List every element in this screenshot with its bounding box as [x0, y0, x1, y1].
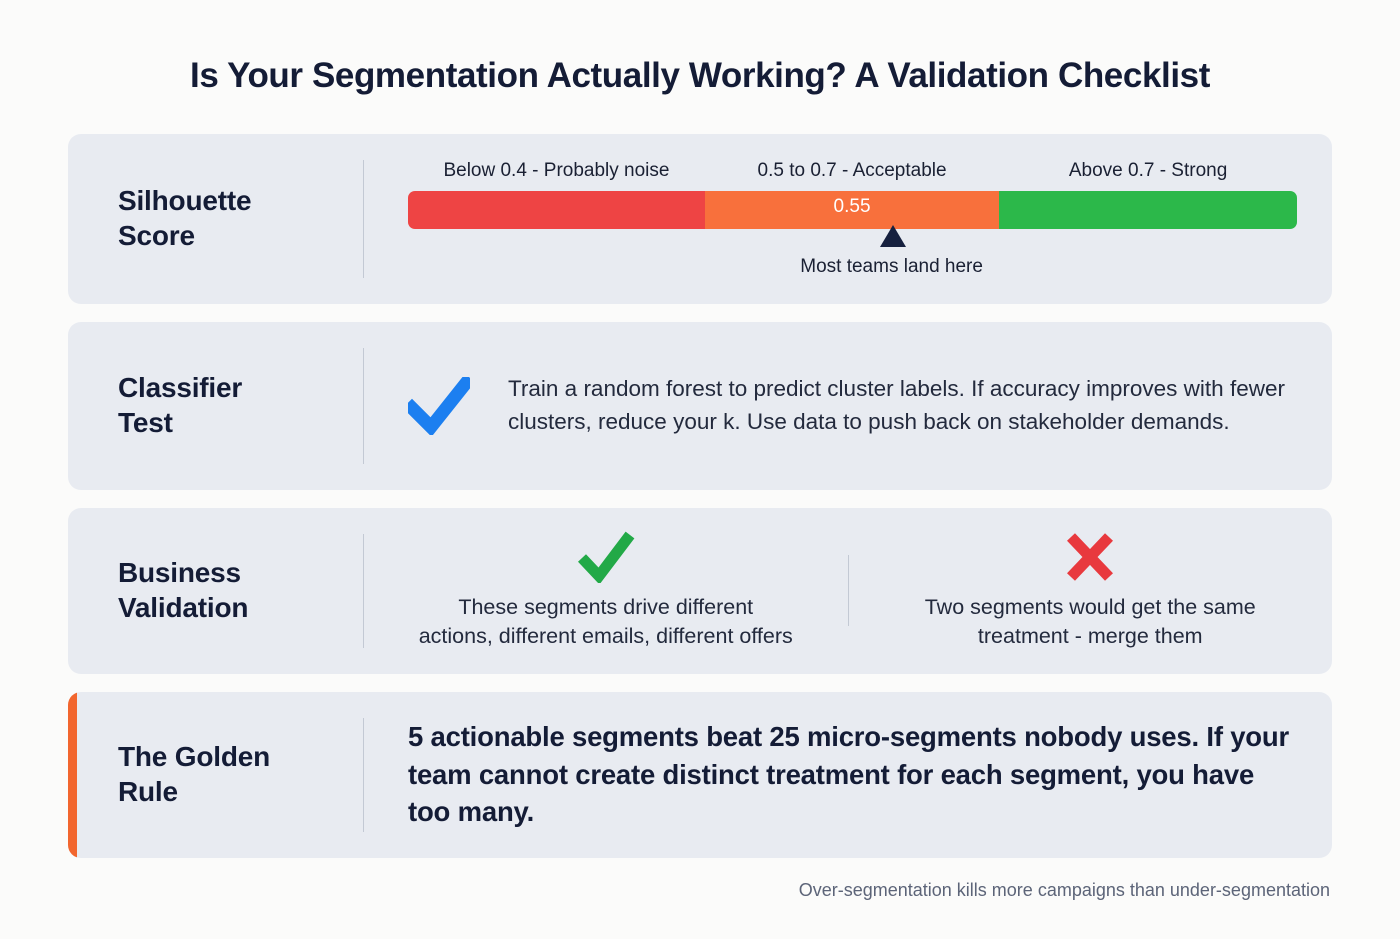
gauge-legend-mid: 0.5 to 0.7 - Acceptable — [705, 160, 999, 182]
row-label-line-1: The Golden — [118, 740, 363, 774]
card-silhouette-score: Silhouette Score Below 0.4 - Probably no… — [68, 134, 1332, 304]
silhouette-gauge: Below 0.4 - Probably noise 0.5 to 0.7 - … — [364, 160, 1332, 278]
infographic-page: Is Your Segmentation Actually Working? A… — [0, 0, 1400, 939]
row-label-line-2: Validation — [118, 591, 363, 625]
row-label-line-2: Score — [118, 219, 363, 253]
row-label-business-validation: Business Validation — [68, 556, 363, 624]
row-label-silhouette-score: Silhouette Score — [68, 184, 363, 252]
gauge-legend-low: Below 0.4 - Probably noise — [408, 160, 705, 182]
card-golden-rule: The Golden Rule 5 actionable segments be… — [68, 692, 1332, 858]
gauge-legend-high: Above 0.7 - Strong — [999, 160, 1297, 182]
silhouette-gauge-body: Below 0.4 - Probably noise 0.5 to 0.7 - … — [364, 160, 1332, 278]
row-label-classifier-test: Classifier Test — [68, 371, 363, 439]
business-column-positive: These segments drive different actions, … — [364, 531, 848, 650]
business-positive-text: These segments drive different actions, … — [419, 593, 793, 650]
business-negative-line-1: Two segments would get the same — [925, 595, 1256, 619]
gauge-value-label: 0.55 — [834, 196, 871, 218]
golden-body-wrap: 5 actionable segments beat 25 micro-segm… — [364, 718, 1332, 832]
check-icon — [577, 531, 635, 583]
card-business-validation: Business Validation These segments drive… — [68, 508, 1332, 674]
classifier-description: Train a random forest to predict cluster… — [508, 373, 1286, 437]
page-title: Is Your Segmentation Actually Working? A… — [0, 0, 1400, 96]
cross-icon — [1064, 531, 1116, 583]
row-label-line-1: Business — [118, 556, 363, 590]
gauge-segment-low — [408, 191, 705, 229]
gauge-marker-caption: Most teams land here — [447, 256, 1332, 278]
row-label-line-1: Silhouette — [118, 184, 363, 218]
golden-rule-text: 5 actionable segments beat 25 micro-segm… — [364, 718, 1332, 832]
row-label-golden-rule: The Golden Rule — [68, 740, 363, 808]
checklist-cards: Silhouette Score Below 0.4 - Probably no… — [0, 134, 1400, 858]
gauge-bar: 0.55 — [408, 191, 1297, 229]
gauge-marker-triangle-icon — [880, 225, 906, 247]
gauge-legend: Below 0.4 - Probably noise 0.5 to 0.7 - … — [408, 160, 1297, 182]
check-icon — [408, 377, 470, 435]
footer-note: Over-segmentation kills more campaigns t… — [0, 858, 1400, 901]
classifier-body-wrap: Train a random forest to predict cluster… — [364, 373, 1332, 437]
gauge-segment-mid: 0.55 — [705, 191, 999, 229]
business-negative-line-2: treatment - merge them — [978, 624, 1203, 648]
gauge-segment-high — [999, 191, 1297, 229]
row-label-line-2: Test — [118, 406, 363, 440]
business-body-wrap: These segments drive different actions, … — [364, 531, 1332, 650]
row-label-line-2: Rule — [118, 775, 363, 809]
row-label-line-1: Classifier — [118, 371, 363, 405]
business-columns: These segments drive different actions, … — [364, 531, 1332, 650]
business-column-negative: Two segments would get the same treatmen… — [849, 531, 1333, 650]
business-positive-line-2: actions, different emails, different off… — [419, 624, 793, 648]
business-negative-text: Two segments would get the same treatmen… — [925, 593, 1256, 650]
classifier-body: Train a random forest to predict cluster… — [364, 373, 1332, 437]
business-positive-line-1: These segments drive different — [458, 595, 753, 619]
card-classifier-test: Classifier Test Train a random forest to… — [68, 322, 1332, 490]
gauge-marker-area — [408, 229, 1297, 251]
